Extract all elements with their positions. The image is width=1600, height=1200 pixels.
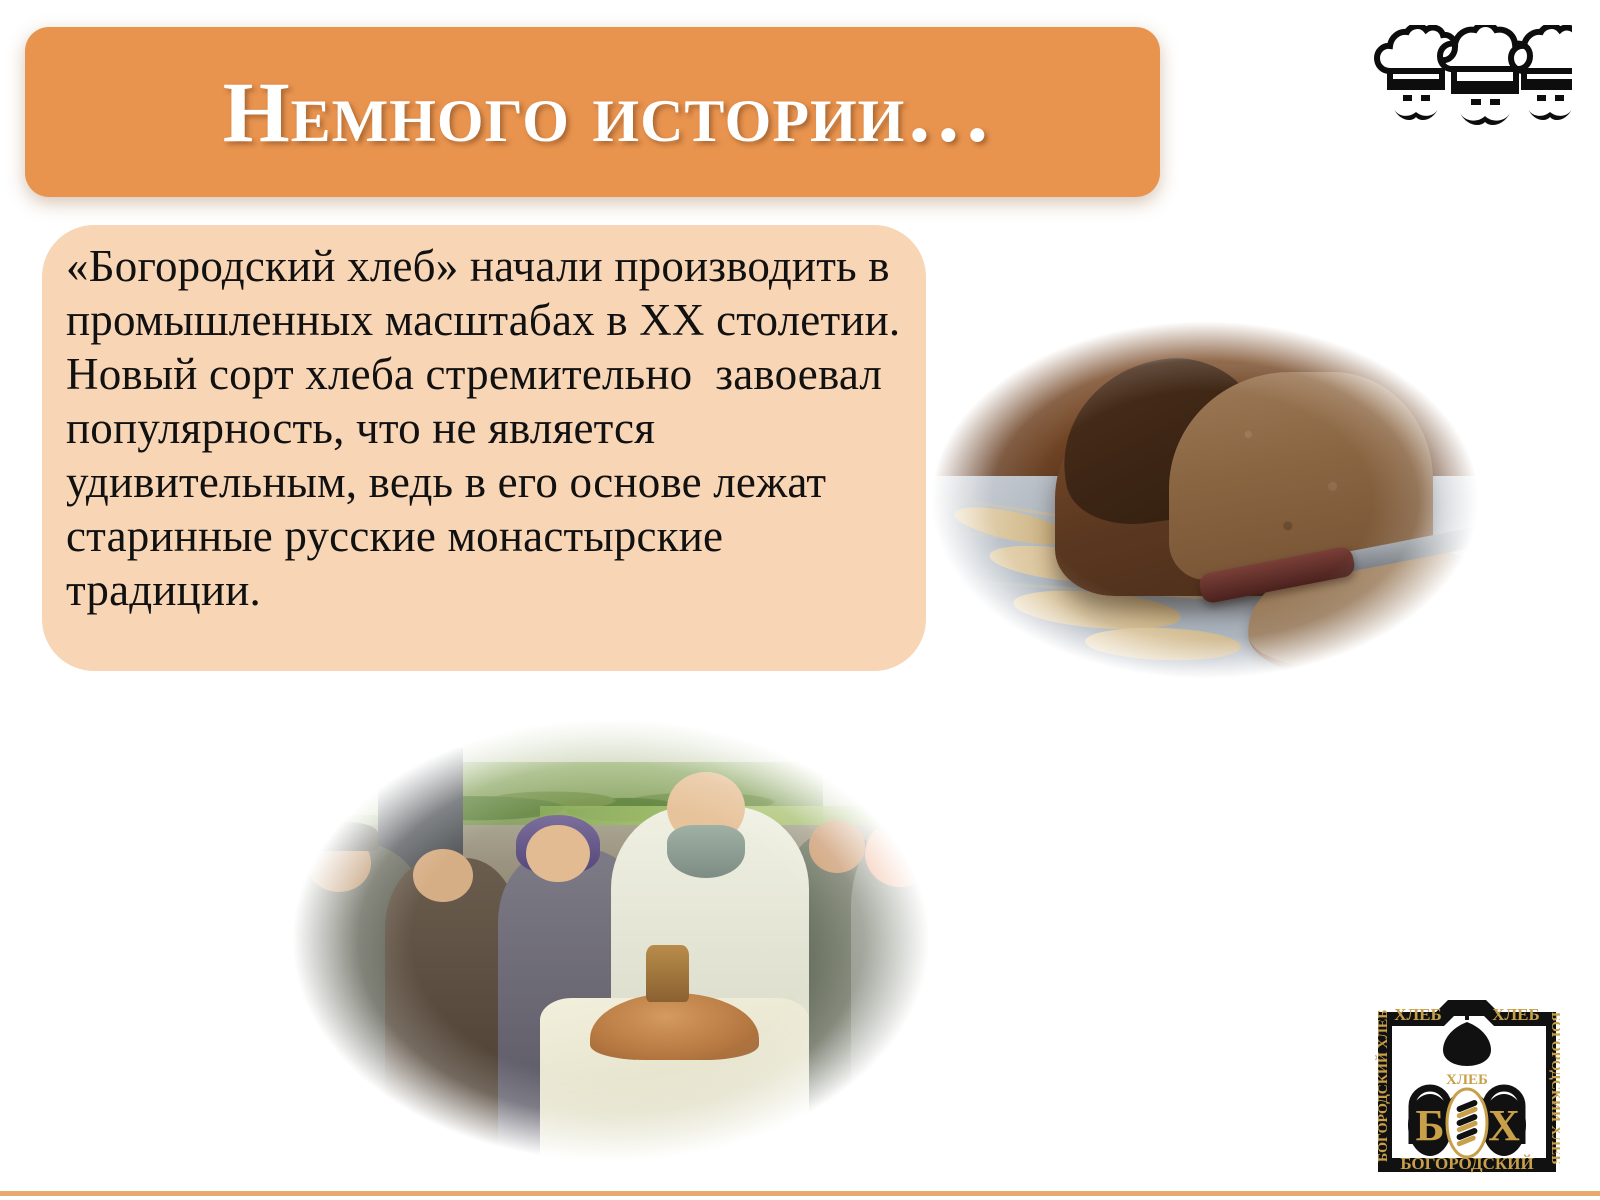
title-banner: Немного истории… bbox=[25, 27, 1160, 197]
body-paragraph: «Богородский хлеб» начали производить в … bbox=[66, 239, 902, 617]
logo-letter-h: Х bbox=[1488, 1101, 1520, 1150]
logo-dome-label: ХЛЕБ bbox=[1446, 1072, 1488, 1088]
logo-side-left: БОГОРОДСКИЙ ХЛЕБ bbox=[1374, 1010, 1391, 1162]
logo-side-right: БОГОРОДСКИЙ ХЛЕБ bbox=[1548, 1012, 1560, 1164]
page-title: Немного истории… bbox=[25, 27, 1160, 197]
bottom-accent-rule bbox=[0, 1191, 1600, 1196]
logo-corner-top-right: ХЛЕБ bbox=[1492, 1005, 1540, 1024]
dark-rye-bread-photo bbox=[905, 300, 1505, 700]
bread-and-salt-painting bbox=[258, 700, 964, 1180]
logo-letter-b: Б bbox=[1415, 1101, 1444, 1150]
slide-canvas: Немного истории… bbox=[0, 0, 1600, 1200]
chef-hats-icon bbox=[1372, 25, 1572, 130]
bogorodsky-hleb-logo: ХЛЕБ ХЛЕБ БОГОРОДСКИЙ ХЛЕБ БОГОРОДСКИЙ Х… bbox=[1374, 992, 1560, 1180]
logo-corner-top-left: ХЛЕБ bbox=[1394, 1005, 1442, 1024]
body-text-card: «Богородский хлеб» начали производить в … bbox=[42, 225, 926, 671]
